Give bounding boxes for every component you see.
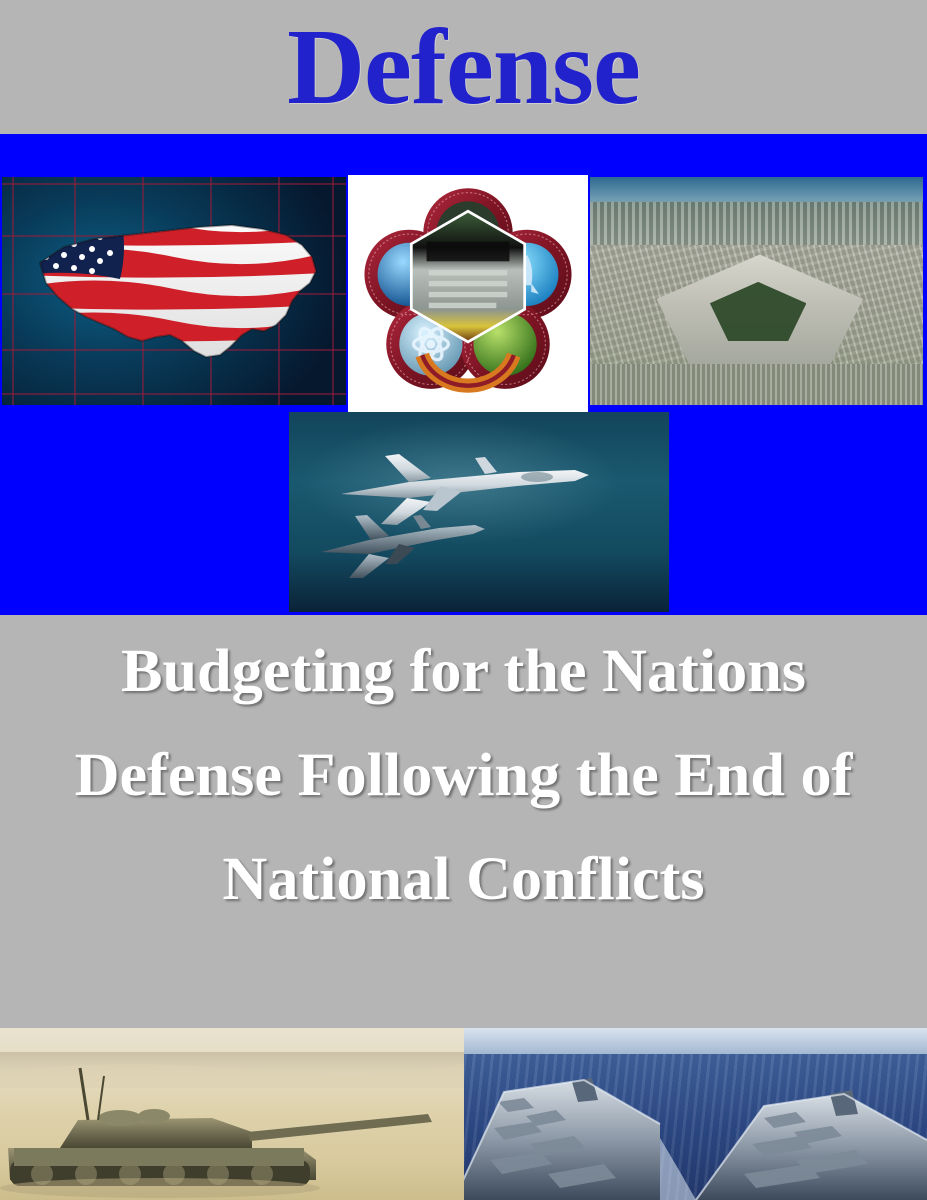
top-collage: [0, 177, 927, 405]
cover-subtitle: Budgeting for the Nations Defense Follow…: [0, 620, 927, 932]
book-cover: Defense: [0, 0, 927, 1200]
usa-map-silhouette: [24, 205, 324, 373]
pentagon-aerial-image: [590, 177, 923, 405]
bottom-collage: [0, 1028, 927, 1200]
defense-agency-seal-image: [348, 175, 588, 412]
seal-graphic: [359, 185, 577, 403]
header-band: Defense: [0, 0, 927, 134]
title-line-1: Budgeting for the Nations: [0, 620, 927, 724]
usa-map-flag-image: [2, 177, 346, 405]
fighter-jets-image: [289, 412, 669, 612]
aircraft-carriers-at-sea-image: [464, 1028, 927, 1200]
page-title: Defense: [0, 6, 927, 130]
title-line-2: Defense Following the End of: [0, 724, 927, 828]
battle-tank-desert-image: [0, 1028, 464, 1200]
title-line-3: National Conflicts: [0, 828, 927, 932]
